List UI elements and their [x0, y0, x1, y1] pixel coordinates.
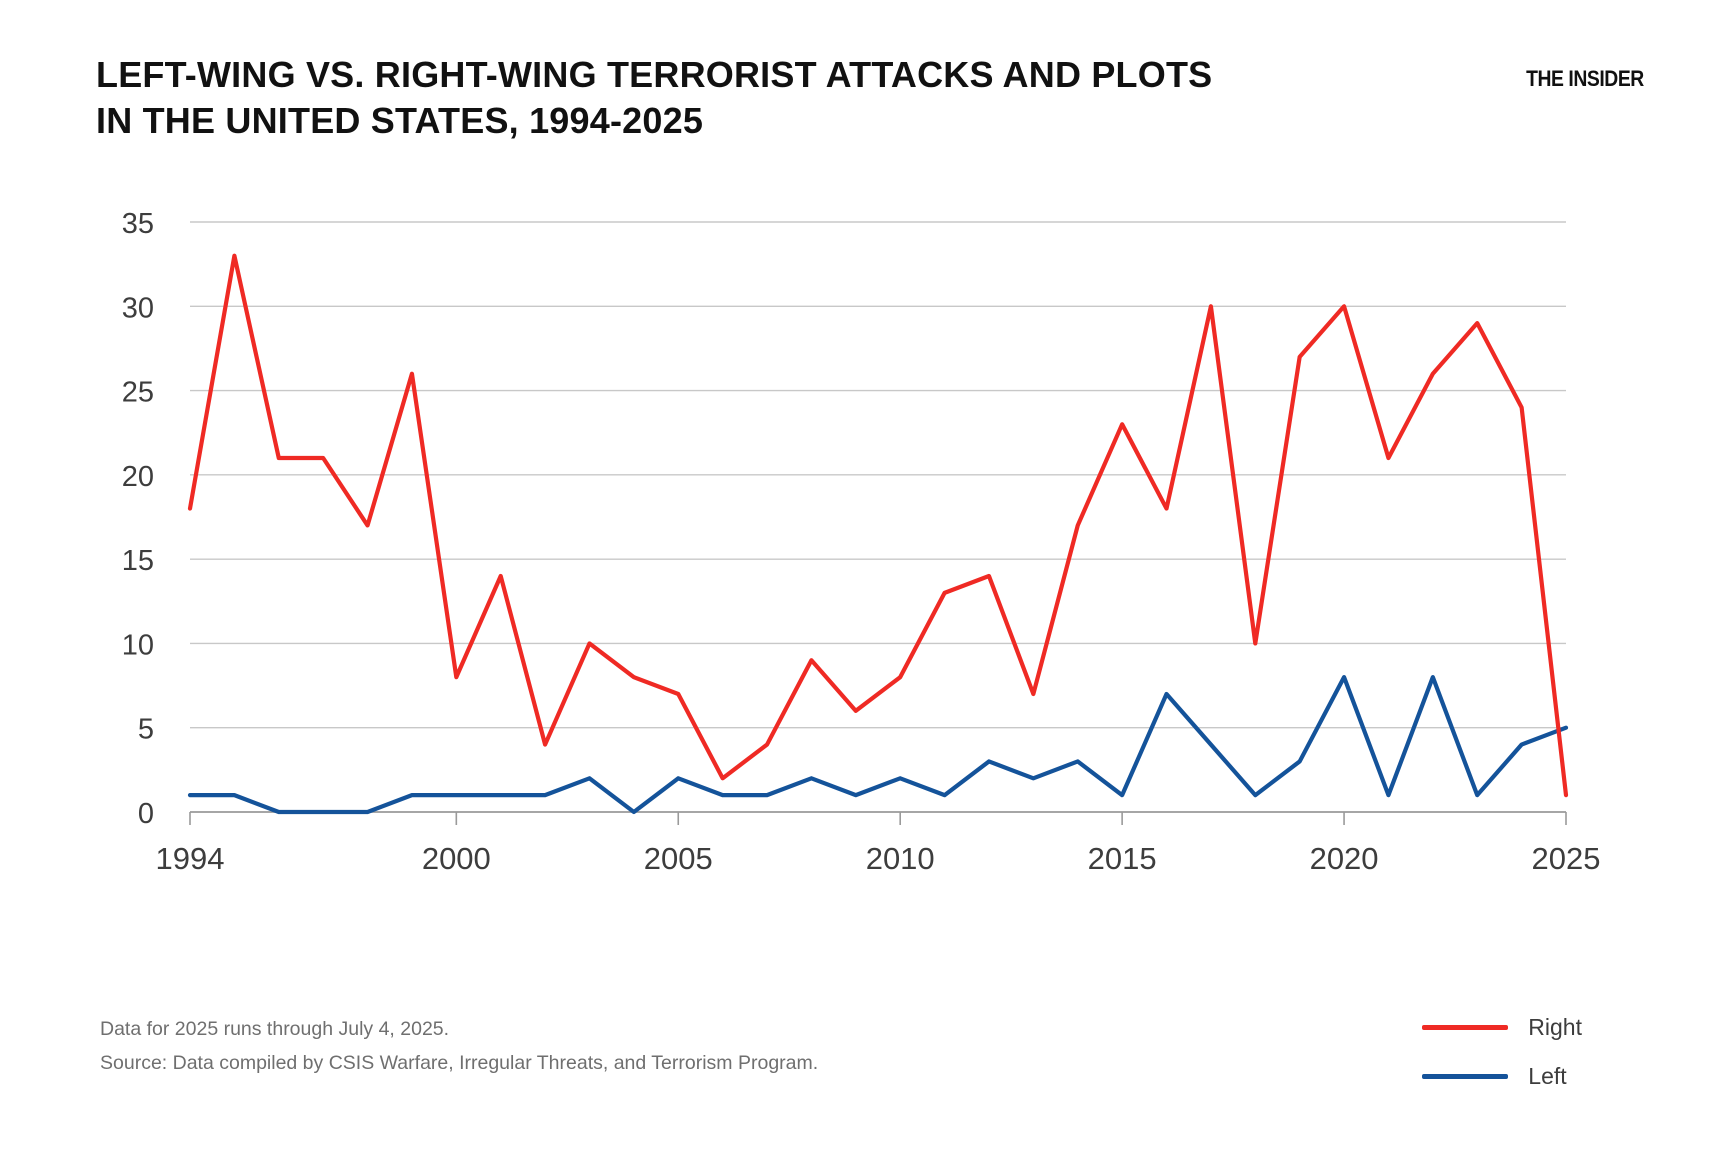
- svg-text:2010: 2010: [866, 841, 935, 876]
- legend-item-left[interactable]: Left: [1422, 1063, 1582, 1090]
- svg-text:2020: 2020: [1310, 841, 1379, 876]
- chart-plot-area: 05101520253035 1994200020052010201520202…: [0, 170, 1732, 970]
- y-axis-tick-labels: 05101520253035: [122, 208, 154, 830]
- svg-text:5: 5: [138, 714, 154, 746]
- svg-text:1994: 1994: [156, 841, 225, 876]
- legend-label-right: Right: [1528, 1014, 1582, 1041]
- x-axis-tick-labels: 1994200020052010201520202025: [156, 841, 1601, 876]
- svg-text:2005: 2005: [644, 841, 713, 876]
- legend-label-left: Left: [1528, 1063, 1566, 1090]
- x-axis-tick-marks: [190, 812, 1566, 825]
- chart-header: LEFT-WING VS. RIGHT-WING TERRORIST ATTAC…: [0, 0, 1732, 170]
- svg-text:2015: 2015: [1088, 841, 1157, 876]
- svg-text:15: 15: [122, 545, 154, 577]
- footnote-source: Source: Data compiled by CSIS Warfare, I…: [100, 1046, 818, 1080]
- legend-swatch-left: [1422, 1074, 1508, 1079]
- chart-legend: Right Left: [1422, 1014, 1582, 1090]
- svg-text:25: 25: [122, 377, 154, 409]
- legend-swatch-right: [1422, 1025, 1508, 1030]
- page-title: LEFT-WING VS. RIGHT-WING TERRORIST ATTAC…: [96, 52, 1216, 144]
- line-chart: 05101520253035 1994200020052010201520202…: [0, 170, 1732, 970]
- brand-logo: THE INSIDER: [1526, 66, 1644, 92]
- svg-text:2025: 2025: [1532, 841, 1601, 876]
- svg-text:20: 20: [122, 461, 154, 493]
- svg-text:0: 0: [138, 798, 154, 830]
- svg-text:30: 30: [122, 292, 154, 324]
- svg-text:10: 10: [122, 629, 154, 661]
- svg-text:35: 35: [122, 208, 154, 240]
- legend-item-right[interactable]: Right: [1422, 1014, 1582, 1041]
- svg-text:2000: 2000: [422, 841, 491, 876]
- footnotes: Data for 2025 runs through July 4, 2025.…: [100, 1012, 818, 1080]
- data-series-lines: [190, 256, 1566, 812]
- footnote-coverage: Data for 2025 runs through July 4, 2025.: [100, 1012, 818, 1046]
